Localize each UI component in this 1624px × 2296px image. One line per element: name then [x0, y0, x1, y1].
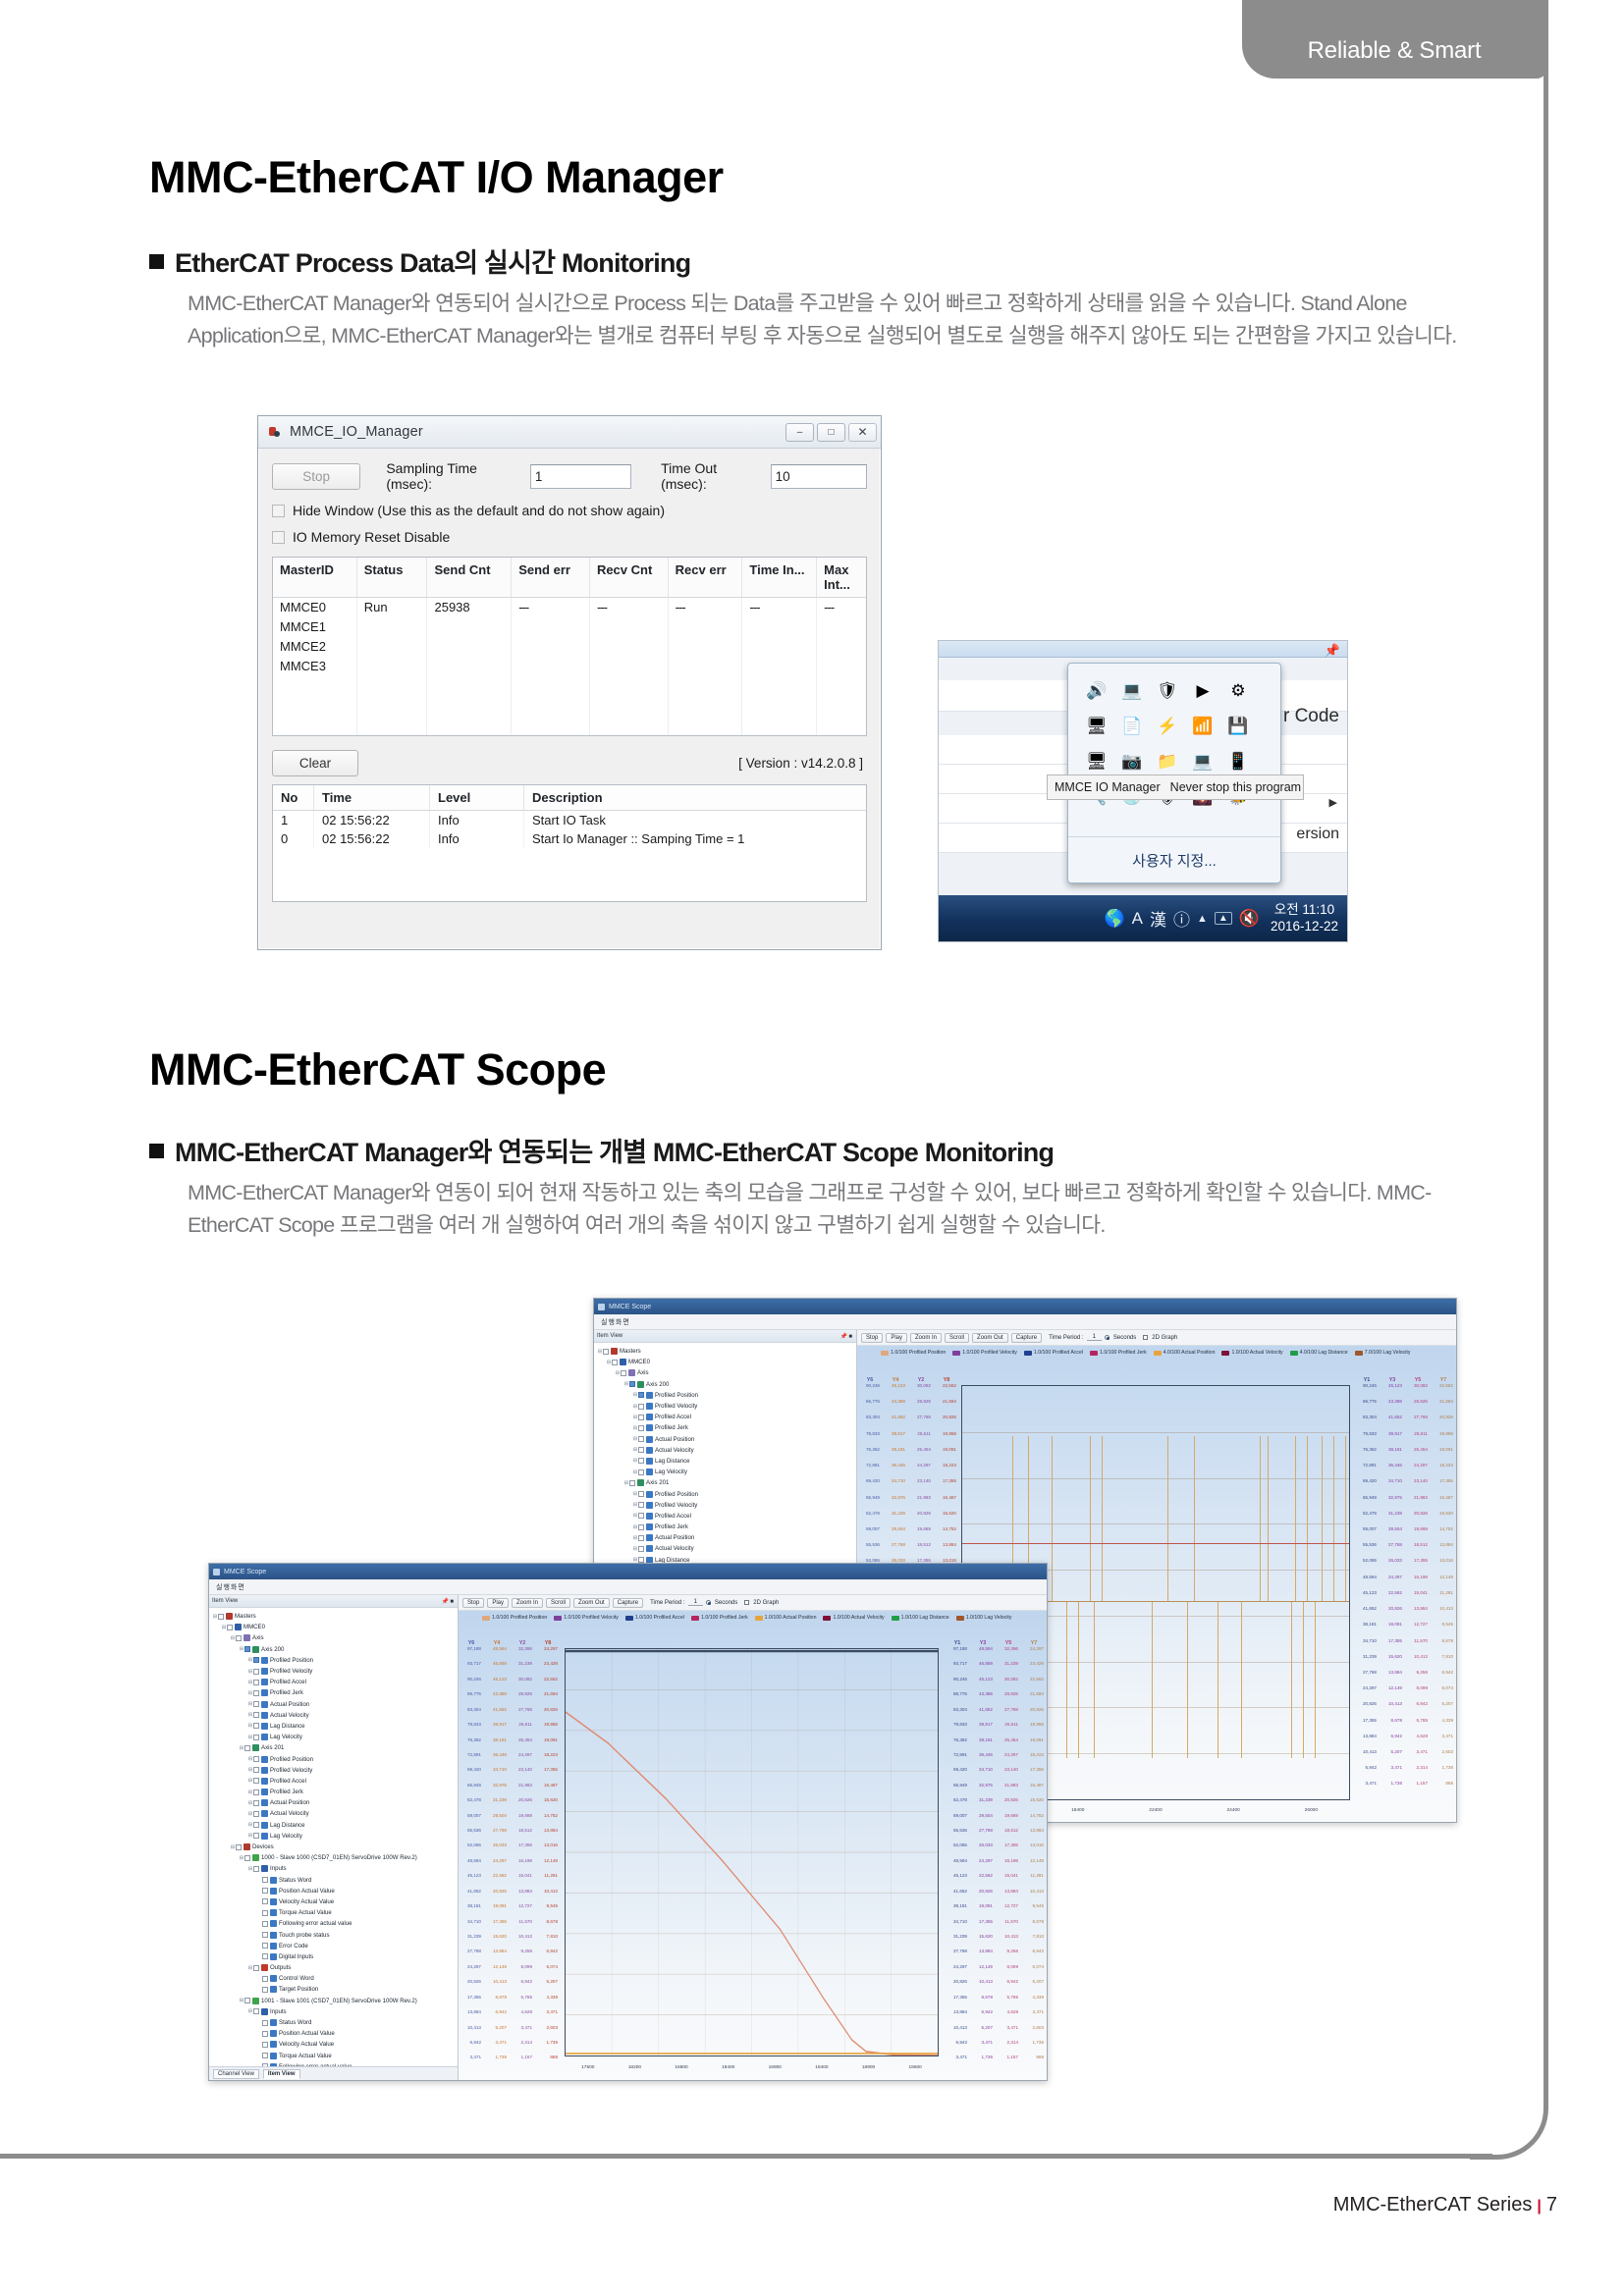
tree-node-checkbox[interactable]: [262, 2053, 268, 2058]
tree-node-checkbox[interactable]: [638, 1535, 644, 1541]
tree-node[interactable]: ⊟Lag Velocity: [212, 1831, 458, 1842]
axis-tick: 41,652: [945, 1889, 970, 1903]
tree-node[interactable]: ⊟Actual Position: [597, 1532, 856, 1543]
tree-node-checkbox[interactable]: [262, 1910, 268, 1916]
tree-node-checkbox[interactable]: [244, 1745, 250, 1751]
x-tick-label: 17500: [581, 2065, 594, 2070]
tree-node[interactable]: ⊟Masters: [212, 1611, 458, 1622]
axis-tick: 14,752: [1021, 1813, 1047, 1828]
legend-label: 1.0/100 Profiled Velocity: [962, 1350, 1017, 1356]
tree-node[interactable]: Touch probe status: [212, 1929, 458, 1940]
tree-node-checkbox[interactable]: [629, 1381, 635, 1387]
tree-node-checkbox[interactable]: [612, 1360, 618, 1365]
tree-node[interactable]: ⊟Lag Distance: [212, 1820, 458, 1831]
axis-tick: 27,768: [996, 1707, 1021, 1722]
maximize-icon[interactable]: □: [817, 423, 845, 442]
scope-back-menubar[interactable]: 실행화면: [594, 1314, 1456, 1330]
axis-tick: 3,471: [945, 2055, 970, 2069]
tree-node[interactable]: Error Code: [212, 1941, 458, 1951]
help-icon[interactable]: ⓘ: [1173, 906, 1190, 931]
tree-node-checkbox[interactable]: [262, 2031, 268, 2037]
clear-button[interactable]: Clear: [272, 750, 358, 776]
time-period-input[interactable]: 1: [688, 1599, 703, 1606]
toolbar-button-zoom-out[interactable]: Zoom Out: [573, 1598, 610, 1608]
tree-node-checkbox[interactable]: [253, 1680, 259, 1685]
toolbar-button-stop[interactable]: Stop: [462, 1598, 484, 1608]
scope-front-tree-header: Item View 📌■: [209, 1595, 458, 1608]
table-row[interactable]: MMCE2: [273, 637, 866, 657]
legend-swatch: [952, 1351, 960, 1356]
axis-tick: 6,074: [1021, 1964, 1047, 1979]
tree-node-checkbox[interactable]: [244, 1646, 250, 1652]
tree-node-checkbox[interactable]: [262, 1932, 268, 1938]
io-memory-reset-checkbox-row[interactable]: IO Memory Reset Disable: [272, 529, 867, 545]
list-item[interactable]: 102 15:56:22InfoStart IO Task: [273, 811, 866, 829]
toolbar-button-zoom-in[interactable]: Zoom In: [910, 1333, 942, 1343]
tree-node-label: Profiled Position: [270, 1756, 313, 1763]
axis-tick: 17,355: [996, 1842, 1021, 1857]
axis-tick: 86,775: [459, 1691, 484, 1706]
pin-and-close-icons[interactable]: 📌■: [840, 1333, 853, 1340]
axis-tick: 1,736: [484, 2055, 510, 2069]
axis-tick: 83,304: [945, 1707, 970, 1722]
tree-node[interactable]: Target Position: [212, 1984, 458, 1995]
tree-node[interactable]: ⊟Profiled Position: [597, 1390, 856, 1401]
axis-tick: 3,471: [535, 2009, 561, 2024]
tree-node[interactable]: ⊟Actual Position: [212, 1699, 458, 1710]
tree-node[interactable]: ⊟Actual Position: [212, 1797, 458, 1808]
network-check-icon[interactable]: 💻: [1117, 676, 1147, 706]
toolbar-button-scroll[interactable]: Scroll: [546, 1598, 570, 1608]
axis-tick: 20,826: [1405, 1511, 1431, 1526]
pin-icon[interactable]: 📌: [1325, 643, 1340, 659]
tree-node[interactable]: Velocity Actual Value: [212, 1896, 458, 1907]
tree-node-checkbox[interactable]: [236, 1635, 242, 1641]
axis-tick: 8,678: [484, 1995, 510, 2009]
tree-node-checkbox[interactable]: [638, 1502, 644, 1508]
tree-node[interactable]: ⊟Profiled Accel: [212, 1776, 458, 1787]
master-cell: [590, 617, 669, 637]
tree-node[interactable]: ⊟MMCE0: [212, 1622, 458, 1632]
tree-node[interactable]: ⊟Inputs: [212, 2006, 458, 2017]
scope-back-tree-header-label: Item View: [597, 1333, 623, 1339]
legend-swatch: [956, 1616, 964, 1621]
axis-tick: 20,826: [908, 1511, 934, 1526]
tree-node[interactable]: ⊟Profiled Jerk: [212, 1787, 458, 1797]
axis-tick: 26,033: [970, 1842, 996, 1857]
tree-node[interactable]: Position Actual Value: [212, 1886, 458, 1896]
axis-tick: 13,884: [535, 1828, 561, 1842]
axis-tick: 83,304: [1354, 1415, 1380, 1430]
signal-icon: [261, 1810, 268, 1817]
signal-icon: [646, 1424, 653, 1431]
tree-node-checkbox[interactable]: [262, 1877, 268, 1883]
section-2-bullet-label: MMC-EtherCAT Manager와 연동되는 개별 MMC-EtherC…: [175, 1138, 1054, 1167]
tree-node-checkbox[interactable]: [262, 1888, 268, 1894]
tab-channel-view[interactable]: Channel View: [213, 2069, 259, 2079]
axis-tick: 2,603: [1431, 1749, 1456, 1765]
axis-tick: 15,620: [535, 1797, 561, 1812]
tree-node-label: Following error actual value: [279, 1920, 352, 1927]
update-icon[interactable]: 💾: [1223, 712, 1253, 741]
tree-node[interactable]: ⊟Profiled Accel: [597, 1412, 856, 1422]
axis-tick: 868: [535, 2055, 561, 2069]
axis-tick: 19,091: [484, 1903, 510, 1918]
hide-window-checkbox[interactable]: [272, 505, 285, 517]
tree-node[interactable]: ⊟Axis 201: [212, 1742, 458, 1753]
tree-node[interactable]: ⊟Actual Velocity: [597, 1543, 856, 1554]
axis-tick: 19,091: [1431, 1447, 1456, 1463]
tree-node[interactable]: ⊟Actual Position: [597, 1434, 856, 1445]
language-globe-icon[interactable]: 🌎: [1104, 909, 1124, 929]
tree-node-checkbox[interactable]: [629, 1480, 635, 1486]
axis-tick: 4,628: [996, 2009, 1021, 2024]
axis-tick: 26,611: [1405, 1431, 1431, 1447]
tree-node[interactable]: ⊟Axis: [212, 1632, 458, 1643]
tree-node[interactable]: ⊟Axis 200: [597, 1379, 856, 1390]
hide-window-checkbox-row[interactable]: Hide Window (Use this as the default and…: [272, 503, 867, 518]
legend-entry: 1.0/100 Profiled Accel: [1024, 1350, 1083, 1356]
toolbar-button-play[interactable]: Play: [487, 1598, 509, 1608]
tree-node-checkbox[interactable]: [227, 1625, 233, 1630]
close-icon[interactable]: ✕: [848, 423, 877, 442]
axis-tick: 69,420: [945, 1767, 970, 1782]
axis-tick: 90,246: [945, 1677, 970, 1691]
scope-front-menubar[interactable]: 실행화면: [209, 1579, 1047, 1595]
tree-node[interactable]: ⊟Profiled Position: [212, 1655, 458, 1666]
show-hidden-icons-icon[interactable]: ▲: [1197, 913, 1208, 925]
tree-node-checkbox[interactable]: [253, 1657, 259, 1663]
axis-tick: 19,091: [1380, 1622, 1405, 1637]
tree-node-checkbox[interactable]: [638, 1415, 644, 1420]
tree-node[interactable]: ⊟Lag Distance: [212, 1721, 458, 1732]
tree-node[interactable]: ⊟1001 - Slave 1001 (CSD7_01EN) ServoDriv…: [212, 1996, 458, 2006]
signal-icon: [646, 1447, 653, 1454]
axis-tick: 90,246: [459, 1677, 484, 1691]
tree-node-checkbox[interactable]: [253, 1965, 259, 1971]
tree-node[interactable]: ⊟Actual Velocity: [597, 1445, 856, 1456]
tree-node[interactable]: ⊟Profiled Velocity: [597, 1500, 856, 1511]
tree-node-checkbox[interactable]: [638, 1404, 644, 1410]
chevron-right-icon[interactable]: ▶: [1329, 796, 1337, 809]
tree-node[interactable]: ⊟Lag Velocity: [597, 1467, 856, 1477]
toolbar-button-scroll[interactable]: Scroll: [945, 1333, 969, 1343]
tree-node-checkbox[interactable]: [638, 1458, 644, 1464]
axis-tick: 20,826: [945, 1979, 970, 1994]
tree-node[interactable]: ⊟Profiled Velocity: [212, 1765, 458, 1776]
legend-swatch: [482, 1616, 490, 1621]
tree-node-checkbox[interactable]: [253, 1735, 259, 1740]
log-cell: Start IO Task: [524, 811, 829, 829]
axis-tick: 15,620: [934, 1511, 959, 1526]
axis-tick: 19,669: [1405, 1526, 1431, 1542]
axis-tick: 6,942: [535, 1949, 561, 1963]
x-tick-label: 24400: [1226, 1808, 1239, 1813]
tree-node-checkbox[interactable]: [253, 1723, 259, 1729]
axis-tick: 90,246: [857, 1383, 883, 1399]
log-cell: Info: [430, 811, 524, 829]
volume-muted-icon[interactable]: 🔇: [1239, 909, 1260, 929]
tree-node-checkbox[interactable]: [253, 1833, 259, 1839]
axis-tick: 13,884: [1354, 1734, 1380, 1749]
signal-icon: [270, 2053, 277, 2059]
tree-node[interactable]: ⊟Profiled Accel: [212, 1677, 458, 1687]
tree-node-checkbox[interactable]: [244, 1855, 250, 1861]
tree-node-checkbox[interactable]: [253, 1866, 259, 1872]
seconds-radio[interactable]: [1105, 1335, 1110, 1340]
tree-node[interactable]: Status Word: [212, 2017, 458, 2028]
time-period-input[interactable]: 1: [1087, 1334, 1102, 1341]
tree-node-label: Touch probe status: [279, 1932, 330, 1939]
tree-node-checkbox[interactable]: [262, 1953, 268, 1959]
scope-front-tree[interactable]: ⊟Masters⊟MMCE0⊟Axis⊟Axis 200⊟Profiled Po…: [209, 1608, 458, 2080]
legend-swatch: [554, 1616, 562, 1621]
tree-node[interactable]: ⊟Axis 200: [212, 1644, 458, 1655]
axis-tick: 16,487: [934, 1495, 959, 1511]
tree-node-label: Torque Actual Value: [279, 2053, 332, 2059]
axis-tick: 19,091: [934, 1447, 959, 1463]
tree-node-checkbox[interactable]: [638, 1425, 644, 1431]
signal-error-icon[interactable]: 📶: [1188, 712, 1218, 741]
legend-label: 1.0/100 Profiled Jerk: [1100, 1350, 1147, 1356]
tree-node[interactable]: ⊟Profiled Velocity: [212, 1666, 458, 1677]
tree-node[interactable]: ⊟Profiled Accel: [597, 1511, 856, 1522]
master-table-body: MMCE0Run25938---------------MMCE1MMCE2MM…: [273, 598, 866, 676]
tree-node-checkbox[interactable]: [253, 1789, 259, 1795]
toolbar-button-zoom-out[interactable]: Zoom Out: [972, 1333, 1008, 1343]
axis-tick: 17,355: [1021, 1767, 1047, 1782]
display-icon[interactable]: 🖥: [1082, 747, 1111, 776]
axis-tick: 76,362: [857, 1447, 883, 1463]
axis-tick: 3,471: [1405, 1749, 1431, 1765]
axis-tick: 3,471: [1380, 1765, 1405, 1781]
tree-node[interactable]: ⊟Masters: [597, 1346, 856, 1357]
tree-node-checkbox[interactable]: [638, 1436, 644, 1442]
axis-tick: 39,917: [484, 1722, 510, 1736]
axis-tick: 45,123: [970, 1677, 996, 1691]
tree-node-checkbox[interactable]: [638, 1546, 644, 1552]
tree-node-checkbox[interactable]: [621, 1370, 626, 1376]
tree-node-checkbox[interactable]: [262, 1921, 268, 1927]
toolbar-button-capture[interactable]: Capture: [613, 1598, 643, 1608]
axis-tick: 15,620: [970, 1934, 996, 1949]
tree-node-checkbox[interactable]: [253, 1778, 259, 1784]
stop-button[interactable]: Stop: [272, 463, 360, 490]
io-memory-reset-checkbox[interactable]: [272, 531, 285, 544]
axis-tick: 79,833: [945, 1722, 970, 1736]
toolbar-button-play[interactable]: Play: [886, 1333, 907, 1343]
tree-node[interactable]: Control Word: [212, 1973, 458, 1984]
tree-node-checkbox[interactable]: [262, 1898, 268, 1904]
axis-tick: 18,512: [510, 1828, 535, 1842]
tree-node-checkbox[interactable]: [262, 2042, 268, 2048]
tree-node-checkbox[interactable]: [253, 1690, 259, 1696]
timeout-input[interactable]: 10: [771, 464, 867, 489]
tree-node-checkbox[interactable]: [236, 1844, 242, 1850]
power-icon[interactable]: ⚡: [1153, 712, 1182, 741]
camera-icon[interactable]: 📷: [1117, 747, 1147, 776]
tree-node[interactable]: ⊟Lag Velocity: [212, 1732, 458, 1742]
pin-and-close-icons[interactable]: 📌■: [442, 1598, 455, 1605]
footer-separator: |: [1537, 2198, 1541, 2215]
speaker-icon[interactable]: 🔊: [1082, 676, 1111, 706]
tab-item-view[interactable]: Item View: [263, 2069, 300, 2079]
spike-line-upper: [1167, 1436, 1168, 1601]
tree-node-checkbox[interactable]: [603, 1349, 609, 1355]
tree-node-checkbox[interactable]: [253, 1701, 259, 1707]
tree-node-checkbox[interactable]: [638, 1524, 644, 1530]
monitor-icon[interactable]: 💻: [1188, 747, 1218, 776]
spike-line-lower: [1094, 1601, 1095, 1758]
timeout-label: Time Out (msec):: [661, 460, 765, 492]
axis-tick: 21,694: [1021, 1691, 1047, 1706]
tree-node-checkbox[interactable]: [253, 1669, 259, 1675]
sampling-time-input[interactable]: 1: [530, 464, 631, 489]
axis-tick: 12,727: [510, 1903, 535, 1918]
tree-node-label: 1001 - Slave 1001 (CSD7_01EN) ServoDrive…: [261, 1998, 417, 2004]
table-row[interactable]: MMCE1: [273, 617, 866, 637]
signal-icon: [261, 1657, 268, 1664]
tree-node-checkbox[interactable]: [638, 1491, 644, 1497]
axis-tick: 26,033: [1380, 1558, 1405, 1574]
tree-node-checkbox[interactable]: [244, 1998, 250, 2003]
tree-node[interactable]: ⊟Profiled Position: [212, 1753, 458, 1764]
tree-node-checkbox[interactable]: [262, 1987, 268, 1993]
seconds-radio[interactable]: [706, 1600, 711, 1605]
tree-node-checkbox[interactable]: [253, 1767, 259, 1773]
graph-2d-checkbox[interactable]: [744, 1600, 749, 1605]
axis-tick: 21,983: [908, 1495, 934, 1511]
tree-node[interactable]: ⊟Lag Distance: [597, 1456, 856, 1467]
axis-tick: 13,884: [996, 1889, 1021, 1903]
tree-node-checkbox[interactable]: [262, 1943, 268, 1949]
device-group-icon: [244, 1843, 250, 1850]
tree-node-label: Axis: [637, 1369, 649, 1376]
toolbar-button-zoom-in[interactable]: Zoom In: [512, 1598, 543, 1608]
tree-node[interactable]: ⊟Profiled Velocity: [597, 1401, 856, 1412]
tree-node[interactable]: ⊟Outputs: [212, 1962, 458, 1973]
tree-node[interactable]: ⊟Axis: [597, 1367, 856, 1378]
axis-tick: 26,611: [908, 1431, 934, 1447]
tree-node[interactable]: ⊟1000 - Slave 1000 (CSD7_01EN) ServoDriv…: [212, 1852, 458, 1863]
tooltip-message: Never stop this program: [1170, 780, 1301, 794]
tree-node-label: Profiled Position: [270, 1657, 313, 1664]
device-icon[interactable]: 📱: [1223, 747, 1253, 776]
tree-node-checkbox[interactable]: [262, 1976, 268, 1982]
tree-node-checkbox[interactable]: [253, 1800, 259, 1806]
table-row[interactable]: MMCE3: [273, 657, 866, 676]
folder-icon[interactable]: 📁: [1153, 747, 1182, 776]
toolbar-button-capture[interactable]: Capture: [1011, 1333, 1042, 1343]
tray-expand-icon[interactable]: ▲: [1215, 912, 1232, 925]
axis-tick: 76,362: [459, 1737, 484, 1752]
tree-node-checkbox[interactable]: [253, 1811, 259, 1817]
pdf-icon[interactable]: 📄: [1117, 712, 1147, 741]
list-item[interactable]: 002 15:56:22InfoStart Io Manager :: Samp…: [273, 829, 866, 848]
axis-tick: 1,736: [1380, 1781, 1405, 1796]
axis-tick: 41,652: [1380, 1415, 1405, 1430]
tree-node-checkbox[interactable]: [262, 2020, 268, 2026]
legend-swatch: [1221, 1351, 1229, 1356]
axis-tick: 23,140: [996, 1767, 1021, 1782]
signal-icon: [270, 1943, 277, 1949]
settings-gear-icon[interactable]: ⚙: [1223, 676, 1253, 706]
taskbar-clock[interactable]: 오전 11:10 2016-12-22: [1271, 902, 1338, 935]
tree-node[interactable]: ⊟Inputs: [212, 1863, 458, 1874]
y-axis-y7: Y722,56221,69420,82619,95819,09118,22317…: [1431, 1377, 1456, 1799]
x-tick-label: 18200: [628, 2065, 641, 2070]
axis-tick: 15,041: [1405, 1590, 1431, 1606]
tree-node[interactable]: Torque Actual Value: [212, 1907, 458, 1918]
table-row[interactable]: MMCE0Run25938---------------: [273, 598, 866, 617]
axis-tick: 34,710: [945, 1919, 970, 1934]
y-axis-y7: Y724,29723,42922,56221,69420,82619,95819…: [1021, 1640, 1047, 2072]
signal-icon: [270, 2030, 277, 2037]
tree-node[interactable]: ⊟Profiled Jerk: [597, 1522, 856, 1532]
graph-2d-checkbox[interactable]: [1143, 1335, 1148, 1340]
media-player-icon[interactable]: ▶: [1188, 676, 1218, 706]
tree-node-checkbox[interactable]: [638, 1469, 644, 1475]
ime-hanja-icon[interactable]: 漢: [1150, 906, 1166, 931]
minimize-icon[interactable]: –: [785, 423, 814, 442]
tree-node-checkbox[interactable]: [638, 1447, 644, 1453]
legend-label: 1.0/100 Profiled Position: [492, 1615, 547, 1621]
axis-tick: 79,833: [459, 1722, 484, 1736]
tree-node-label: Velocity Actual Value: [279, 2041, 334, 2048]
tree-node[interactable]: ⊟Profiled Jerk: [212, 1687, 458, 1698]
tree-node-checkbox[interactable]: [253, 1712, 259, 1718]
axis-tick: 41,652: [883, 1415, 908, 1430]
tree-node[interactable]: ⊟Actual Velocity: [212, 1808, 458, 1819]
tree-node[interactable]: ⊟Axis 201: [597, 1477, 856, 1488]
tree-node[interactable]: ⊟MMCE0: [597, 1357, 856, 1367]
tree-node[interactable]: Position Actual Value: [212, 2028, 458, 2039]
tree-node-checkbox[interactable]: [253, 1822, 259, 1828]
tree-node[interactable]: Following error actual value: [212, 1918, 458, 1929]
tree-node[interactable]: Torque Actual Value: [212, 2051, 458, 2061]
axis-tick: 27,768: [459, 1949, 484, 1963]
tree-node-checkbox[interactable]: [638, 1513, 644, 1519]
tree-node[interactable]: Status Word: [212, 1875, 458, 1886]
spike-line-lower: [1303, 1601, 1304, 1758]
axis-tick: 13,016: [1431, 1558, 1456, 1574]
tray-customize-button[interactable]: 사용자 지정...: [1068, 836, 1280, 882]
axis-tick: 27,768: [945, 1949, 970, 1963]
tree-node-checkbox[interactable]: [253, 2008, 259, 2014]
tree-node-checkbox[interactable]: [638, 1392, 644, 1398]
legend-entry: 1.0/100 Profiled Velocity: [554, 1615, 619, 1621]
tree-node-checkbox[interactable]: [218, 1614, 224, 1620]
tree-node-label: 1000 - Slave 1000 (CSD7_01EN) ServoDrive…: [261, 1854, 417, 1861]
tree-node-label: Devices: [252, 1843, 274, 1850]
tree-node-label: Profiled Jerk: [655, 1424, 688, 1431]
tree-node-checkbox[interactable]: [253, 1756, 259, 1762]
tree-node[interactable]: ⊟Actual Velocity: [212, 1710, 458, 1721]
time-period-label: Time Period :: [1049, 1335, 1083, 1341]
signal-icon: [270, 1909, 277, 1916]
spike-line-upper: [1345, 1436, 1346, 1601]
shield-green-icon[interactable]: 🛡: [1153, 676, 1182, 706]
tree-node[interactable]: ⊟Profiled Jerk: [597, 1422, 856, 1433]
toolbar-button-stop[interactable]: Stop: [861, 1333, 883, 1343]
ime-alpha-icon[interactable]: A: [1132, 909, 1143, 929]
network-share-icon[interactable]: 🖥: [1082, 712, 1111, 741]
tree-node-label: Lag Distance: [270, 1822, 305, 1829]
tree-node[interactable]: ⊟Devices: [212, 1842, 458, 1852]
tree-node[interactable]: ⊟Profiled Position: [597, 1488, 856, 1499]
tree-node[interactable]: Digital Inputs: [212, 1951, 458, 1962]
tree-node[interactable]: Velocity Actual Value: [212, 2039, 458, 2050]
